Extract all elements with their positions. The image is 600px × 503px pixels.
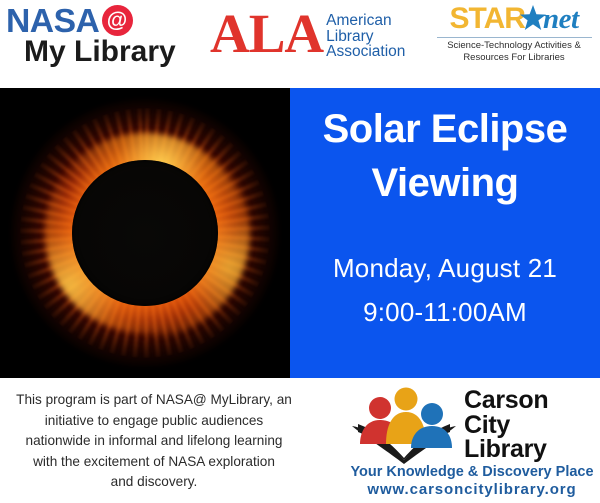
- hero-band: Solar Eclipse Viewing Monday, August 21 …: [0, 88, 600, 378]
- star-icon: [520, 5, 546, 33]
- event-title-line-2: Viewing: [297, 156, 593, 210]
- event-details-panel: Solar Eclipse Viewing Monday, August 21 …: [290, 88, 600, 378]
- library-name-line-3: Library: [464, 437, 548, 462]
- program-description-line-1: This program is part of NASA@ MyLibrary,…: [4, 390, 304, 411]
- carson-city-library-logo-top: Carson City Library: [348, 386, 596, 464]
- event-flyer: NASA @ My Library ALA American Library A…: [0, 0, 600, 503]
- ala-wordmark: ALA: [210, 8, 323, 60]
- library-name-line-2: City: [464, 413, 548, 438]
- starnet-subtitle-line-2: Resources For Libraries: [432, 52, 596, 64]
- sponsor-logo-strip: NASA @ My Library ALA American Library A…: [0, 0, 600, 88]
- starnet-divider: [437, 37, 592, 38]
- library-name-line-1: Carson: [464, 388, 548, 413]
- starnet-subtitle: Science-Technology Activities & Resource…: [432, 40, 596, 64]
- moon-silhouette-disc: [72, 160, 218, 306]
- event-datetime: Monday, August 21 9:00-11:00AM: [297, 246, 593, 334]
- event-date: Monday, August 21: [297, 246, 593, 290]
- library-name: Carson City Library: [464, 388, 548, 462]
- ala-name-line-3: Association: [326, 44, 405, 60]
- carson-city-library-logo: Carson City Library Your Knowledge & Dis…: [348, 386, 596, 498]
- event-time: 9:00-11:00AM: [297, 290, 593, 334]
- ala-name-line-2: Library: [326, 29, 405, 45]
- flyer-footer: This program is part of NASA@ MyLibrary,…: [0, 378, 600, 503]
- library-people-and-book-icon: [348, 386, 460, 464]
- event-title: Solar Eclipse Viewing: [297, 102, 593, 210]
- nasa-logo-top-row: NASA @: [6, 5, 196, 36]
- starnet-wordmark-row: STAR net: [432, 4, 596, 34]
- nasa-at-my-library-logo: NASA @ My Library: [6, 5, 196, 67]
- starnet-star-wordmark: STAR: [449, 4, 524, 34]
- starnet-net-wordmark: net: [543, 4, 579, 34]
- ala-name-line-1: American: [326, 13, 405, 29]
- starnet-subtitle-line-1: Science-Technology Activities &: [432, 40, 596, 52]
- program-description: This program is part of NASA@ MyLibrary,…: [4, 390, 304, 493]
- nasa-wordmark: NASA: [6, 5, 99, 36]
- nasa-logo-subtitle: My Library: [24, 36, 196, 67]
- american-library-association-logo: ALA American Library Association: [210, 8, 405, 66]
- ala-full-name: American Library Association: [326, 13, 405, 60]
- program-description-line-5: and discovery.: [4, 472, 304, 493]
- library-tagline: Your Knowledge & Discovery Place: [348, 464, 596, 481]
- solar-eclipse-photo: [0, 88, 290, 378]
- library-website-url[interactable]: www.carsoncitylibrary.org: [348, 481, 596, 498]
- starnet-logo: STAR net Science-Technology Activities &…: [432, 4, 596, 66]
- program-description-line-3: nationwide in informal and lifelong lear…: [4, 431, 304, 452]
- at-symbol-icon: @: [102, 5, 133, 36]
- event-title-line-1: Solar Eclipse: [297, 102, 593, 156]
- program-description-line-2: initiative to engage public audiences: [4, 411, 304, 432]
- program-description-line-4: with the excitement of NASA exploration: [4, 452, 304, 473]
